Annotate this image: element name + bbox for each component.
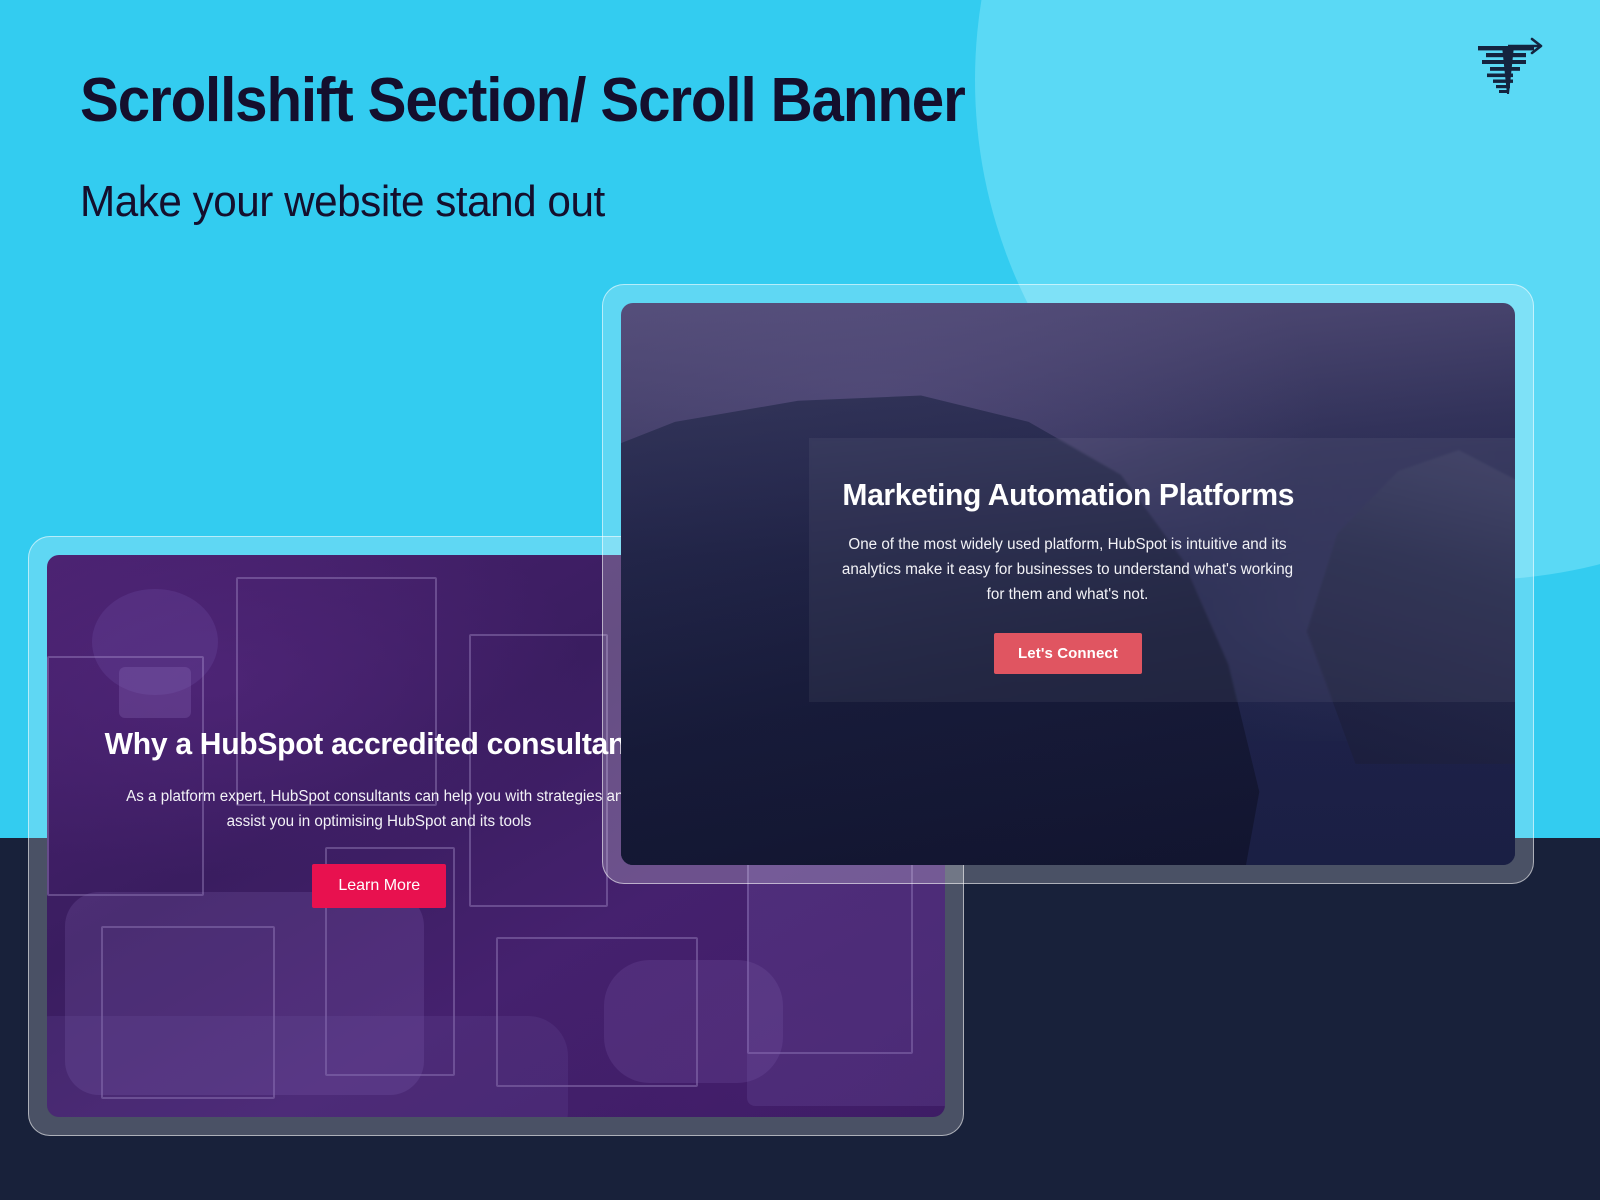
decor-bookshelf — [747, 858, 945, 1105]
scrollshift-funnel-arrow-logo[interactable] — [1468, 30, 1548, 100]
funnel-arrow-icon — [1468, 30, 1548, 100]
card-heading: Marketing Automation Platforms — [817, 476, 1320, 514]
lets-connect-button[interactable]: Let's Connect — [994, 633, 1142, 674]
decor-rug — [47, 1016, 568, 1117]
page-title: Scrollshift Section/ Scroll Banner — [80, 70, 1302, 132]
card-content-automation: Marketing Automation Platforms One of th… — [809, 438, 1328, 674]
learn-more-button[interactable]: Learn More — [312, 864, 446, 908]
header: Scrollshift Section/ Scroll Banner Make … — [80, 70, 1380, 224]
card-image-automation: Marketing Automation Platforms One of th… — [621, 303, 1515, 865]
scroll-banner-card-automation[interactable]: Marketing Automation Platforms One of th… — [602, 284, 1534, 884]
card-body-text: One of the most widely used platform, Hu… — [835, 532, 1301, 607]
card-body-text: As a platform expert, HubSpot consultant… — [105, 784, 654, 834]
page-subtitle: Make your website stand out — [80, 132, 1328, 224]
